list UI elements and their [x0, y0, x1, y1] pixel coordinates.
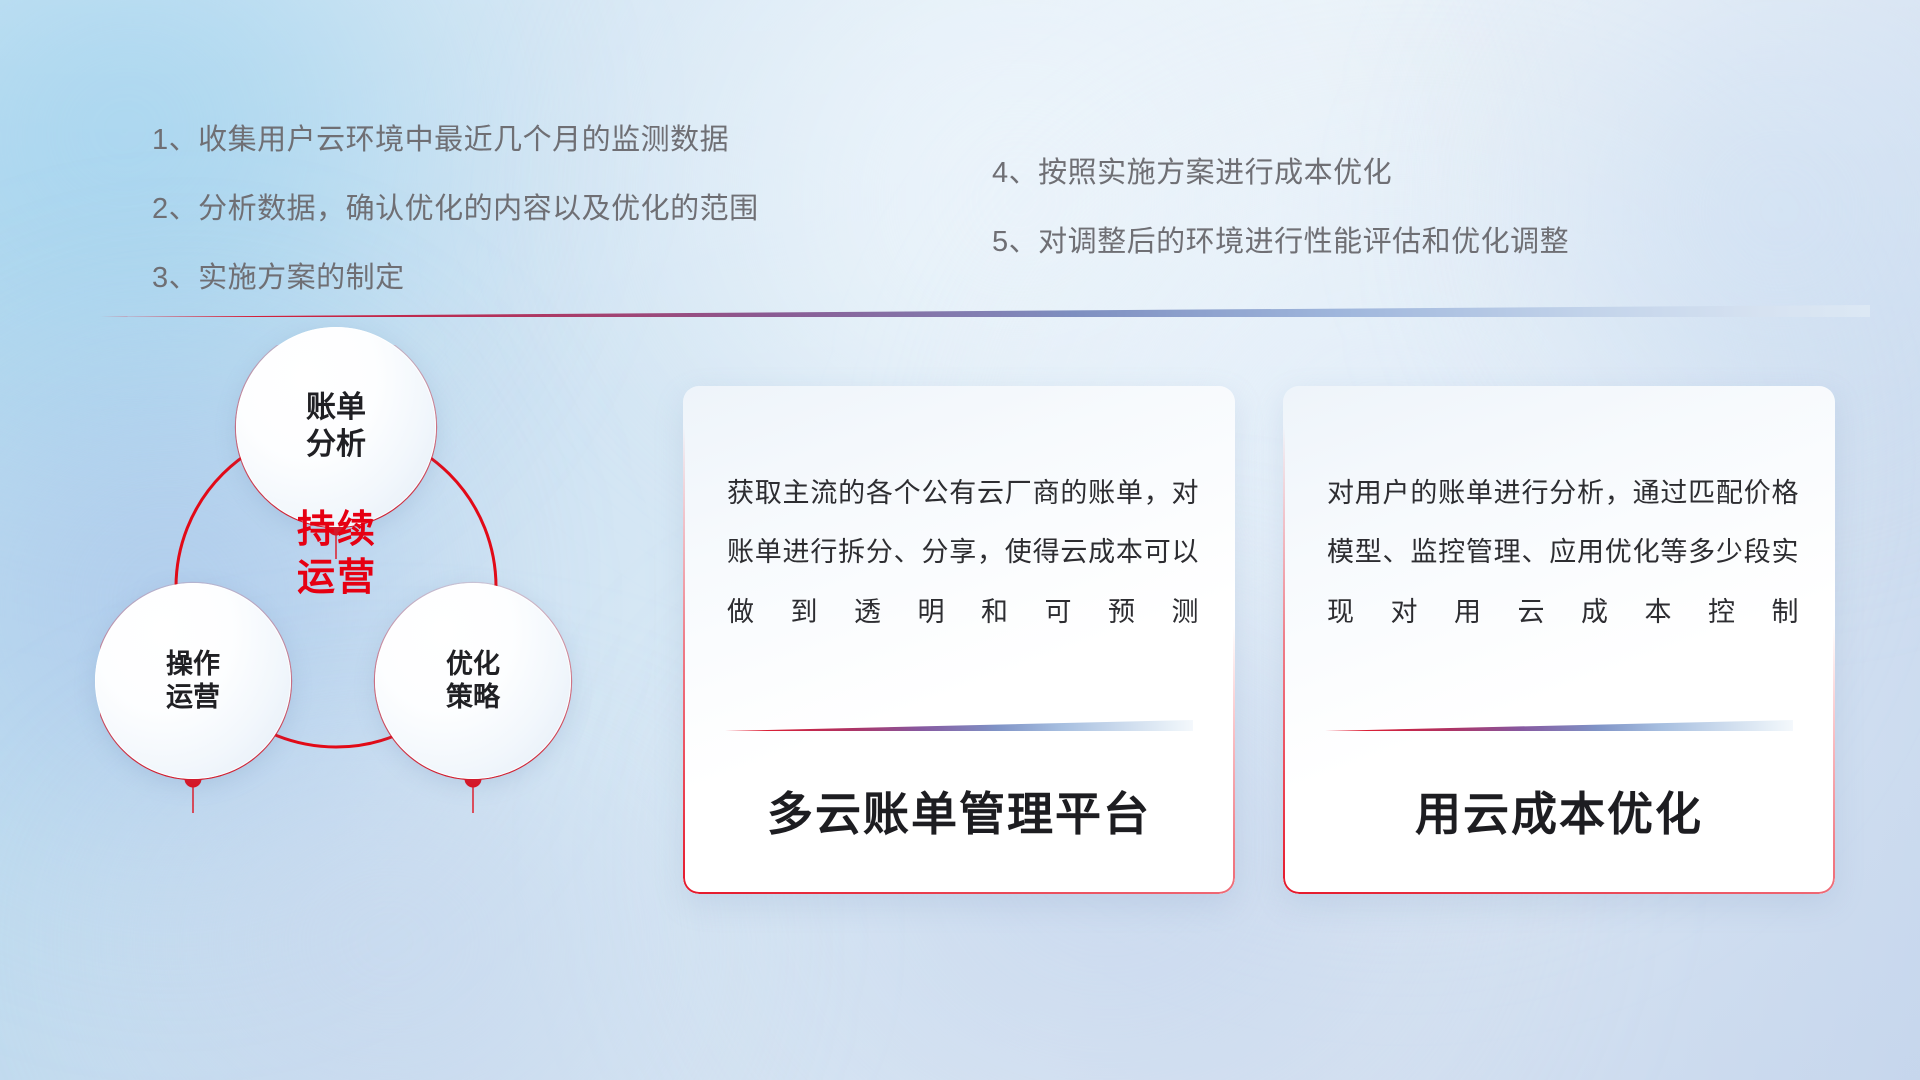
venn-bubble-label-line2: 运营 [166, 681, 220, 714]
feature-card-cloud-cost-optimization[interactable]: 对用户的账单进行分析，通过匹配价格模型、监控管理、应用优化等多少段实现对用云成本… [1283, 386, 1835, 894]
venn-bubble-label-line2: 策略 [446, 681, 500, 714]
card-accent-rule [725, 720, 1193, 731]
step-item: 1、收集用户云环境中最近几个月的监测数据 [152, 126, 759, 155]
venn-bubble-bill-analysis[interactable]: 账单 分析 [236, 327, 436, 527]
card-title: 多云账单管理平台 [683, 778, 1235, 844]
step-item: 2、分析数据，确认优化的内容以及优化的范围 [152, 195, 759, 224]
step-item: 4、按照实施方案进行成本优化 [992, 159, 1569, 188]
card-description: 获取主流的各个公有云厂商的账单，对账单进行拆分、分享，使得云成本可以做到透明和可… [727, 464, 1199, 642]
card-accent-rule [1325, 720, 1793, 731]
venn-bubble-strategy[interactable]: 优化 策略 [375, 583, 571, 779]
venn-center-line1: 持续 [257, 507, 417, 555]
steps-left-column: 1、收集用户云环境中最近几个月的监测数据 2、分析数据，确认优化的内容以及优化的… [152, 126, 759, 333]
venn-center-line2: 运营 [257, 555, 417, 603]
step-item: 5、对调整后的环境进行性能评估和优化调整 [992, 228, 1569, 257]
venn-bubble-label-line1: 账单 [306, 390, 366, 427]
step-item: 3、实施方案的制定 [152, 264, 759, 293]
feature-card-multi-cloud-billing-platform[interactable]: 获取主流的各个公有云厂商的账单，对账单进行拆分、分享，使得云成本可以做到透明和可… [683, 386, 1235, 894]
card-title: 用云成本优化 [1283, 778, 1835, 844]
venn-bubble-label-line1: 优化 [446, 648, 500, 681]
venn-bubble-label-line2: 分析 [306, 427, 366, 464]
venn-center-label: 持续 运营 [257, 507, 417, 602]
venn-bubble-label-line1: 操作 [166, 648, 220, 681]
steps-right-column: 4、按照实施方案进行成本优化 5、对调整后的环境进行性能评估和优化调整 [992, 159, 1569, 297]
continuous-operation-diagram: 账单 分析 操作 运营 优化 策略 持续 运营 [100, 345, 660, 945]
card-description: 对用户的账单进行分析，通过匹配价格模型、监控管理、应用优化等多少段实现对用云成本… [1327, 464, 1799, 642]
venn-bubble-operations[interactable]: 操作 运营 [95, 583, 291, 779]
